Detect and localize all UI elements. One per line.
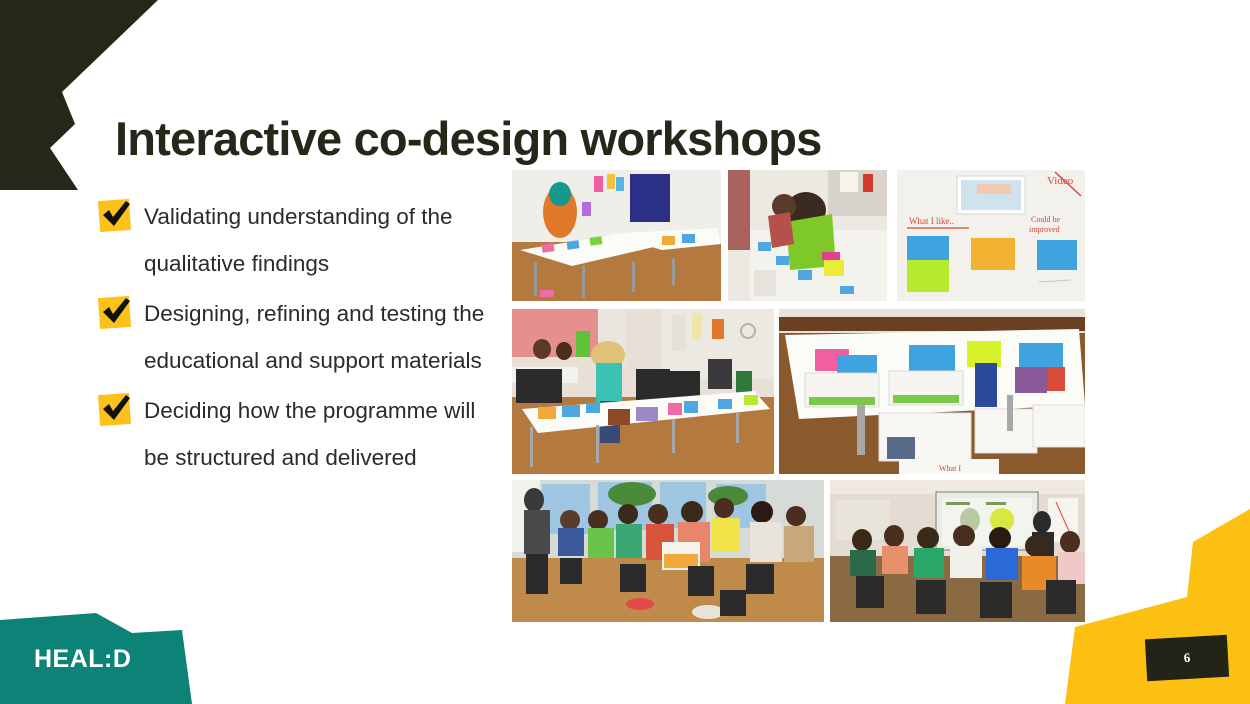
list-item: Designing, refining and testing the educ… [96,290,486,384]
workshop-photo: What I [779,309,1085,474]
svg-text:improved: improved [1029,225,1060,234]
svg-text:Could be: Could be [1031,215,1061,224]
svg-text:What I: What I [939,464,961,473]
list-item-label: Designing, refining and testing the educ… [144,290,486,384]
svg-text:What I like..: What I like.. [909,216,954,226]
list-item: Validating understanding of the qualitat… [96,193,486,287]
check-mark-icon [96,197,134,233]
page-title: Interactive co-design workshops [115,111,822,166]
list-item: Deciding how the programme will be struc… [96,387,486,481]
svg-text:Video: Video [1047,175,1074,187]
page-number-badge: 6 [1145,635,1229,682]
check-mark-icon [96,391,134,427]
workshop-photo [512,309,774,474]
heald-logo: HEAL:D [34,645,131,674]
workshop-photo [830,480,1085,622]
list-item-label: Deciding how the programme will be struc… [144,387,486,481]
check-mark-icon [96,294,134,330]
bullet-list: Validating understanding of the qualitat… [96,193,486,484]
photo-collage: Video What I like.. Could be improved [512,170,1085,622]
list-item-label: Validating understanding of the qualitat… [144,193,486,287]
page-number: 6 [1145,635,1229,682]
slide-canvas: HEAL:D Interactive co-design workshops V… [0,0,1250,704]
workshop-photo [512,480,824,622]
workshop-photo [512,170,721,301]
workshop-photo: Video What I like.. Could be improved [897,170,1085,301]
workshop-photo [728,170,887,301]
